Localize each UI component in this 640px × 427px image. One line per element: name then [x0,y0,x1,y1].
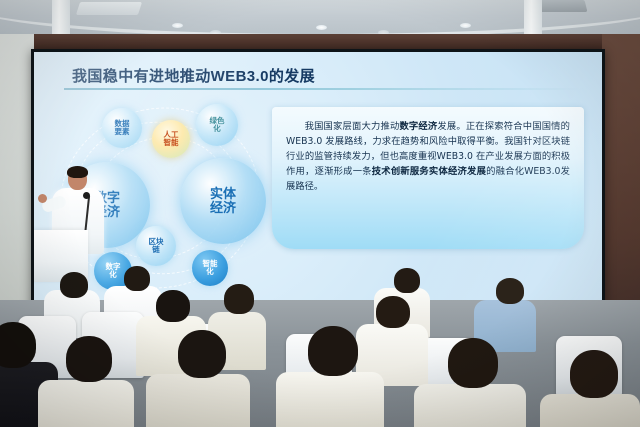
downlight [172,23,183,28]
bubble-label: 绿色 化 [210,117,225,133]
downlight [316,25,327,30]
bubble-zhineng-hua: 智能 化 [192,250,228,286]
speaker-hand [38,194,47,203]
slide-body-text: 我国国家层面大力推动数字经济发展。正在探索符合中国国情的 WEB3.0 发展路线… [286,119,570,194]
person-head [570,350,618,398]
wall-right [602,34,640,324]
audience-area [0,300,640,427]
person-head [66,336,112,382]
title-underline [64,88,584,90]
person-head [394,268,420,293]
bubble-label: 实体 经济 [210,187,236,215]
person-head [124,266,150,291]
bubble-label: 人工 智能 [164,131,179,147]
person-head [496,278,524,304]
bubble-shuju-yaosu: 数据 要素 [102,108,142,148]
slide-title: 我国稳中有进地推动WEB3.0的发展 [72,65,315,86]
person-head [156,290,190,322]
person-head [448,338,498,388]
speaker-hair [67,166,88,178]
ceiling-pillar [524,0,542,36]
person-head [376,296,410,328]
person-head [0,322,36,368]
presentation-slide: 我国稳中有进地推动WEB3.0的发展 数字 经济 实体 经济 数据 要素 绿色 … [34,52,602,304]
bubble-label: 智能 化 [203,260,218,276]
downlight [460,23,471,28]
bubble-label: 数据 要素 [115,120,130,136]
person-head [60,272,88,298]
bubble-shiti-jingji: 实体 经济 [180,158,266,244]
slide-text-panel: 我国国家层面大力推动数字经济发展。正在探索符合中国国情的 WEB3.0 发展路线… [272,107,584,249]
person-torso [540,394,640,427]
person-torso [146,374,250,427]
conference-photo-scene: 我国稳中有进地推动WEB3.0的发展 数字 经济 实体 经济 数据 要素 绿色 … [0,0,640,427]
ceiling [0,0,640,36]
person-head [178,330,226,378]
bubble-label: 区块 链 [149,238,164,254]
person-torso [276,372,384,427]
bubble-rengong-zhineng: 人工 智能 [152,120,190,158]
person-head [224,284,254,314]
microphone-head [83,192,90,199]
ceiling-light-panel [76,2,142,15]
bubble-lvse-hua: 绿色 化 [196,104,238,146]
person-torso [414,384,526,427]
person-head [308,326,358,376]
wall-left [0,34,34,324]
bubble-qukuai-lian: 区块 链 [136,226,176,266]
person-torso [38,380,134,427]
ceiling-pillar [52,0,70,36]
